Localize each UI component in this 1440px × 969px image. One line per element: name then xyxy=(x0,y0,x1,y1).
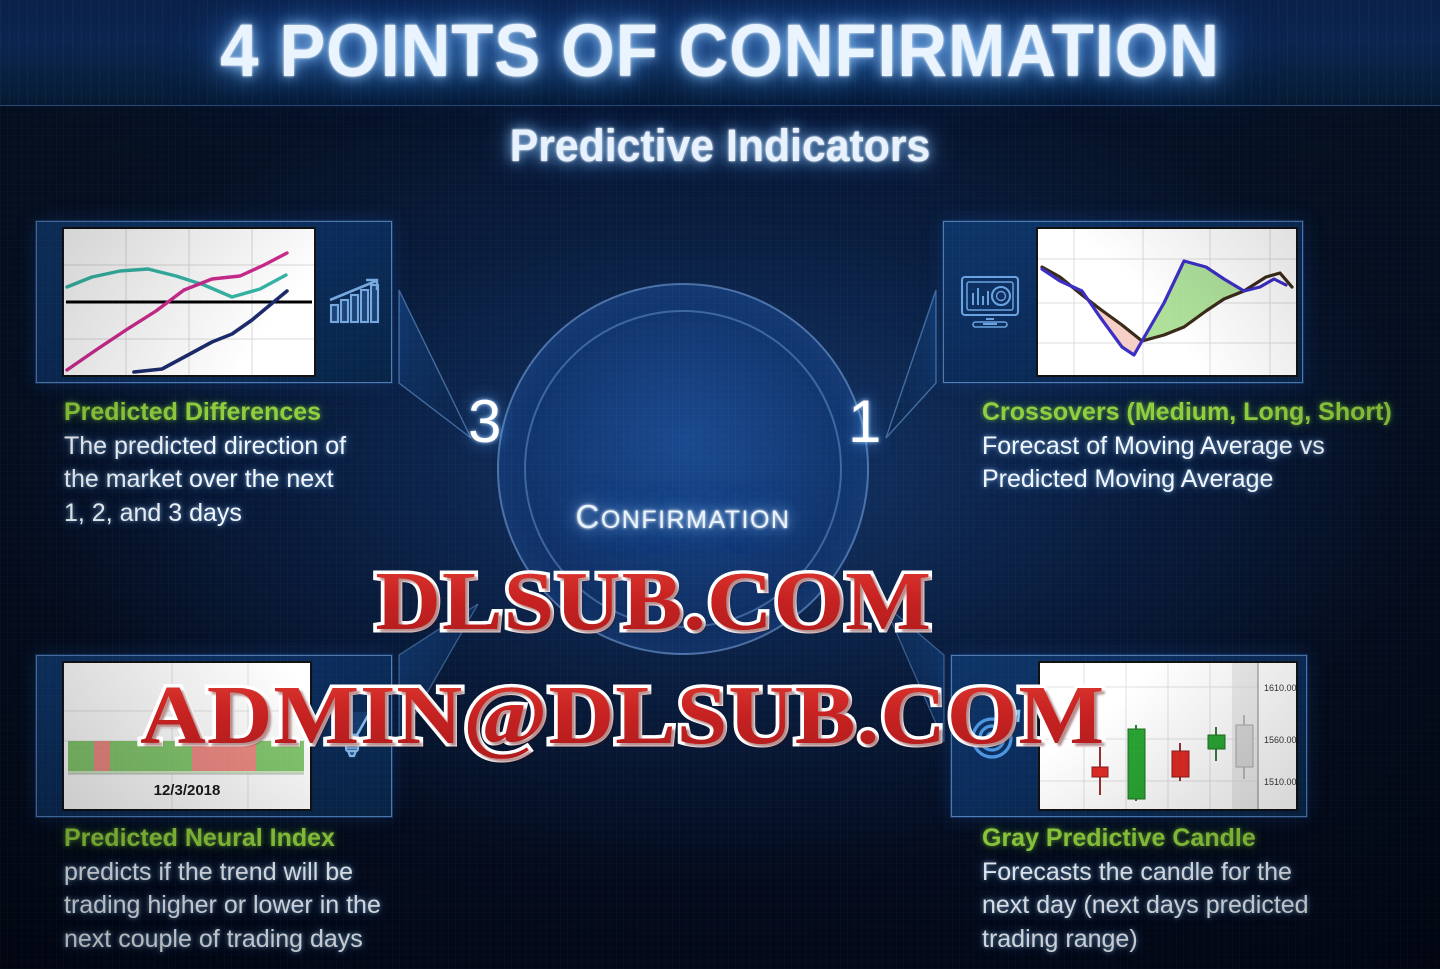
price-label-1: 1610.00 xyxy=(1264,683,1296,693)
predicted-differences-plot xyxy=(64,229,314,375)
caption-predicted-differences: Predicted Differences The predicted dire… xyxy=(64,398,346,530)
caption-predicted-neural-index: Predicted Neural Index predicts if the t… xyxy=(64,824,381,956)
confirmation-hub-label: CONFIRMATION xyxy=(497,498,869,536)
chart-crossovers xyxy=(1036,227,1298,377)
chart-predicted-differences xyxy=(62,227,316,377)
card-icon-wrap-top-right xyxy=(944,274,1036,330)
crossovers-plot xyxy=(1038,229,1296,375)
caption-line-3: trading range) xyxy=(982,923,1309,956)
caption-crossovers: Crossovers (Medium, Long, Short) Forecas… xyxy=(982,398,1392,497)
caption-title: Gray Predictive Candle xyxy=(982,824,1309,853)
page-subtitle: Predictive Indicators xyxy=(36,120,1404,172)
hub-label-smallcaps: ONFIRMATION xyxy=(601,506,791,534)
caption-title: Crossovers (Medium, Long, Short) xyxy=(982,398,1392,427)
card-crossovers[interactable] xyxy=(943,221,1303,383)
caption-line-2: Predicted Moving Average xyxy=(982,463,1392,496)
caption-title: Predicted Neural Index xyxy=(64,824,381,853)
slide-canvas: CONFIRMATION 3 1 xyxy=(0,0,1440,969)
card-icon-wrap-top-left xyxy=(316,278,392,326)
caption-line-1: Forecast of Moving Average vs xyxy=(982,430,1392,463)
point-number-3: 3 xyxy=(468,392,501,452)
caption-line-2: the market over the next xyxy=(64,463,346,496)
point-number-1: 1 xyxy=(848,392,881,452)
caption-line-3: 1, 2, and 3 days xyxy=(64,497,346,530)
caption-line-2: trading higher or lower in the xyxy=(64,889,381,922)
caption-gray-predictive-candle: Gray Predictive Candle Forecasts the can… xyxy=(982,824,1309,956)
caption-line-1: Forecasts the candle for the xyxy=(982,856,1309,889)
page-title: 4 POINTS OF CONFIRMATION xyxy=(50,8,1389,93)
bar-chart-growth-icon xyxy=(328,278,380,326)
caption-line-3: next couple of trading days xyxy=(64,923,381,956)
caption-line-1: predicts if the trend will be xyxy=(64,856,381,889)
caption-line-1: The predicted direction of xyxy=(64,430,346,463)
neural-index-date-label: 12/3/2018 xyxy=(154,782,221,799)
watermark-site: DLSUB.COM xyxy=(375,560,932,644)
watermark-email: ADMIN@DLSUB.COM xyxy=(140,674,1105,758)
monitor-analytics-icon xyxy=(959,274,1021,330)
price-label-2: 1560.00 xyxy=(1264,735,1296,745)
card-predicted-differences[interactable] xyxy=(36,221,392,383)
caption-title: Predicted Differences xyxy=(64,398,346,427)
hub-label-capital: C xyxy=(576,498,601,535)
price-label-3: 1510.00 xyxy=(1264,777,1296,787)
caption-line-2: next day (next days predicted xyxy=(982,889,1309,922)
